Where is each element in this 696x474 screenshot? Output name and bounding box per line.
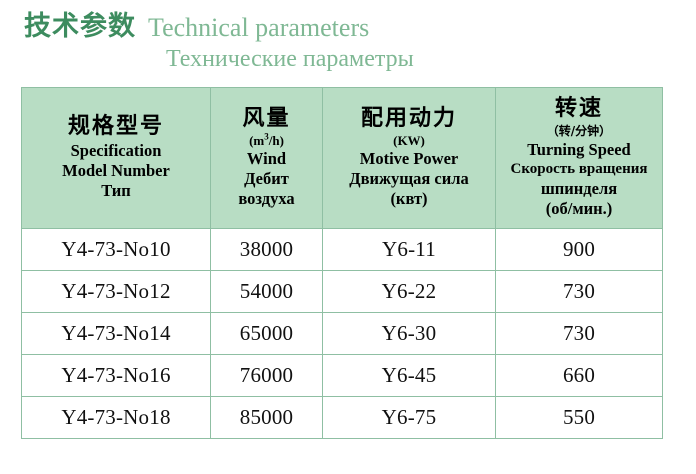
cell-model: Y4-73-No14 xyxy=(22,313,211,355)
column-header-wind: 风量 (m3/h) Wind Дебит воздуха xyxy=(211,88,323,229)
technical-parameters-page: 技术参数 Technical parameters Технические па… xyxy=(0,0,696,474)
table-row: Y4-73-No16 76000 Y6-45 660 xyxy=(22,355,663,397)
column-header-specification-model: 规格型号 Specification Model Number Тип xyxy=(22,88,211,229)
table-header-row: 规格型号 Specification Model Number Тип 风量 (… xyxy=(22,88,663,229)
col4-title-en: Turning Speed xyxy=(498,140,660,160)
page-title-russian: Технические параметры xyxy=(166,45,664,73)
page-title-chinese: 技术参数 xyxy=(24,12,136,42)
column-header-motive-power: 配用动力 (KW) Motive Power Движущая сила (кв… xyxy=(323,88,496,229)
cell-power: Y6-22 xyxy=(323,271,496,313)
cell-speed: 730 xyxy=(496,313,663,355)
col3-title-ru: Движущая сила xyxy=(325,169,493,189)
cell-power: Y6-11 xyxy=(323,229,496,271)
cell-model: Y4-73-No12 xyxy=(22,271,211,313)
col4-unit-cn: （转/分钟） xyxy=(498,123,660,140)
col1-title-en-line1: Specification xyxy=(24,141,208,161)
table-body: Y4-73-No10 38000 Y6-11 900 Y4-73-No12 54… xyxy=(22,229,663,439)
cell-power: Y6-45 xyxy=(323,355,496,397)
table-row: Y4-73-No18 85000 Y6-75 550 xyxy=(22,397,663,439)
col1-title-en-line2: Model Number xyxy=(24,161,208,181)
spec-table-wrapper: 规格型号 Specification Model Number Тип 风量 (… xyxy=(21,87,662,439)
col3-unit-ru: (квт) xyxy=(325,189,493,209)
col3-title-cn: 配用动力 xyxy=(325,105,493,133)
col1-title-ru: Тип xyxy=(24,181,208,201)
col2-title-en: Wind xyxy=(213,149,320,169)
cell-speed: 660 xyxy=(496,355,663,397)
col4-title-ru-line2: шпинделя xyxy=(498,179,660,199)
col2-unit: (m3/h) xyxy=(213,133,320,149)
cell-speed: 900 xyxy=(496,229,663,271)
cell-model: Y4-73-No10 xyxy=(22,229,211,271)
cell-speed: 730 xyxy=(496,271,663,313)
col4-title-ru-line1: Скорость вращения xyxy=(498,160,660,179)
cell-model: Y4-73-No16 xyxy=(22,355,211,397)
column-header-turning-speed: 转速 （转/分钟） Turning Speed Скорость вращени… xyxy=(496,88,663,229)
col3-title-en: Motive Power xyxy=(325,149,493,169)
cell-model: Y4-73-No18 xyxy=(22,397,211,439)
col1-title-cn: 规格型号 xyxy=(24,113,208,141)
technical-parameters-table: 规格型号 Specification Model Number Тип 风量 (… xyxy=(21,87,663,439)
col4-title-cn: 转速 xyxy=(498,95,660,123)
page-title-english: Technical parameters xyxy=(148,13,369,42)
cell-wind: 85000 xyxy=(211,397,323,439)
title-primary-line: 技术参数 Technical parameters xyxy=(24,8,664,42)
table-row: Y4-73-No14 65000 Y6-30 730 xyxy=(22,313,663,355)
col4-unit-ru: (об/мин.) xyxy=(498,199,660,219)
table-row: Y4-73-No10 38000 Y6-11 900 xyxy=(22,229,663,271)
col2-title-cn: 风量 xyxy=(213,105,320,133)
col2-title-ru-line1: Дебит xyxy=(213,169,320,189)
page-title-block: 技术参数 Technical parameters Технические па… xyxy=(24,8,664,73)
cell-power: Y6-30 xyxy=(323,313,496,355)
col2-title-ru-line2: воздуха xyxy=(213,189,320,209)
cell-wind: 65000 xyxy=(211,313,323,355)
cell-power: Y6-75 xyxy=(323,397,496,439)
cell-wind: 76000 xyxy=(211,355,323,397)
col3-unit: (KW) xyxy=(325,133,493,149)
cell-wind: 38000 xyxy=(211,229,323,271)
table-row: Y4-73-No12 54000 Y6-22 730 xyxy=(22,271,663,313)
cell-wind: 54000 xyxy=(211,271,323,313)
cell-speed: 550 xyxy=(496,397,663,439)
